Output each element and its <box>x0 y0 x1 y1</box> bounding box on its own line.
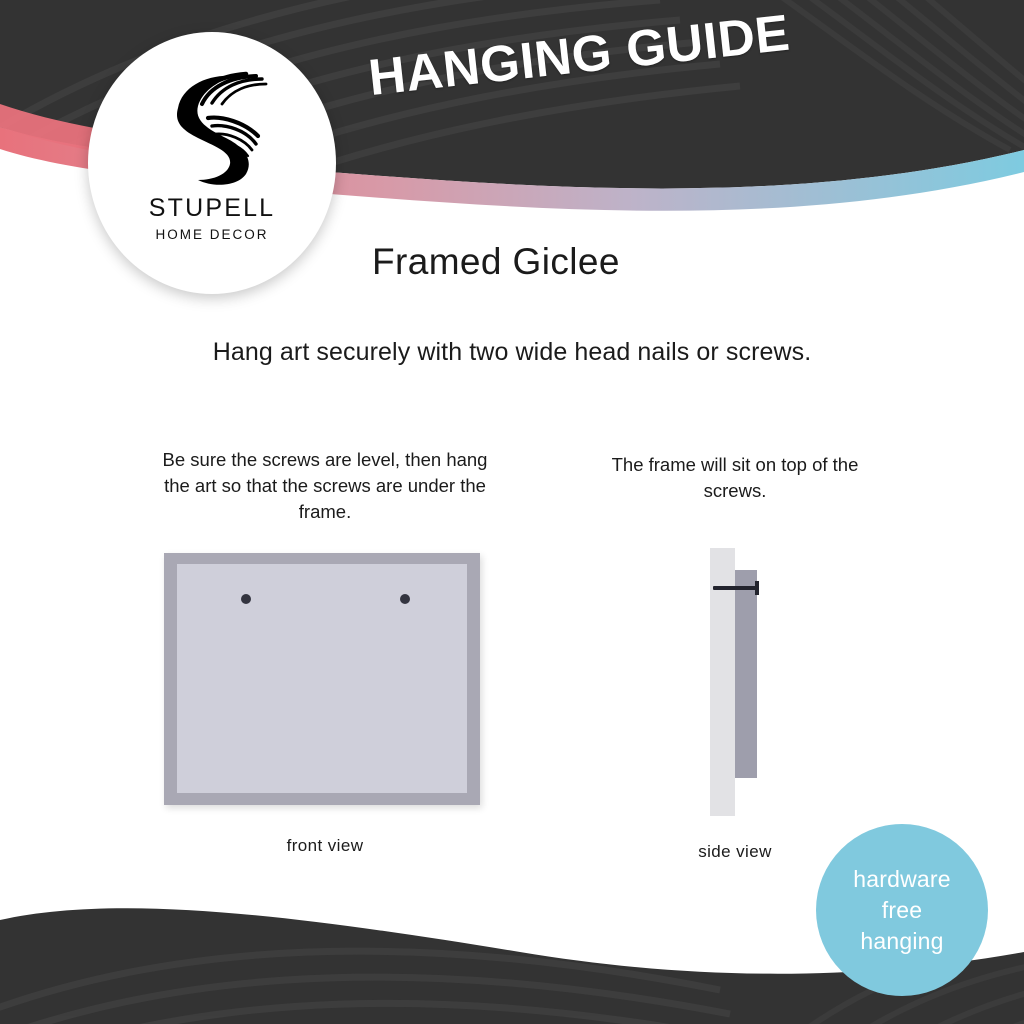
badge-line-2: free <box>882 895 922 926</box>
product-type-label: Framed Giclee <box>372 241 620 283</box>
frame-side-strip <box>735 570 757 778</box>
screw-dot-right <box>400 594 410 604</box>
hanging-guide-page: STUPELL HOME DECOR HANGING GUIDE Framed … <box>0 0 1024 1024</box>
side-view-label: side view <box>600 842 870 862</box>
brand-logo-badge: STUPELL HOME DECOR <box>88 32 336 294</box>
lead-instruction-text: Hang art securely with two wide head nai… <box>0 338 1024 367</box>
front-view-diagram <box>164 553 480 805</box>
badge-line-1: hardware <box>853 864 951 895</box>
nail-head-icon <box>755 581 759 595</box>
brand-tagline: HOME DECOR <box>155 228 268 242</box>
brand-name: STUPELL <box>149 196 276 221</box>
nail-icon <box>713 586 758 590</box>
screw-dot-left <box>241 594 251 604</box>
hardware-free-hanging-badge: hardware free hanging <box>816 824 988 996</box>
front-view-mat <box>177 564 467 793</box>
side-view-diagram <box>710 548 810 816</box>
front-view-label: front view <box>155 836 495 856</box>
badge-line-3: hanging <box>860 926 943 957</box>
stupell-swoosh-s-logo-icon <box>152 60 272 188</box>
page-title: HANGING GUIDE <box>366 3 793 107</box>
side-view-instruction: The frame will sit on top of the screws. <box>590 452 880 504</box>
front-view-instruction: Be sure the screws are level, then hang … <box>155 447 495 525</box>
